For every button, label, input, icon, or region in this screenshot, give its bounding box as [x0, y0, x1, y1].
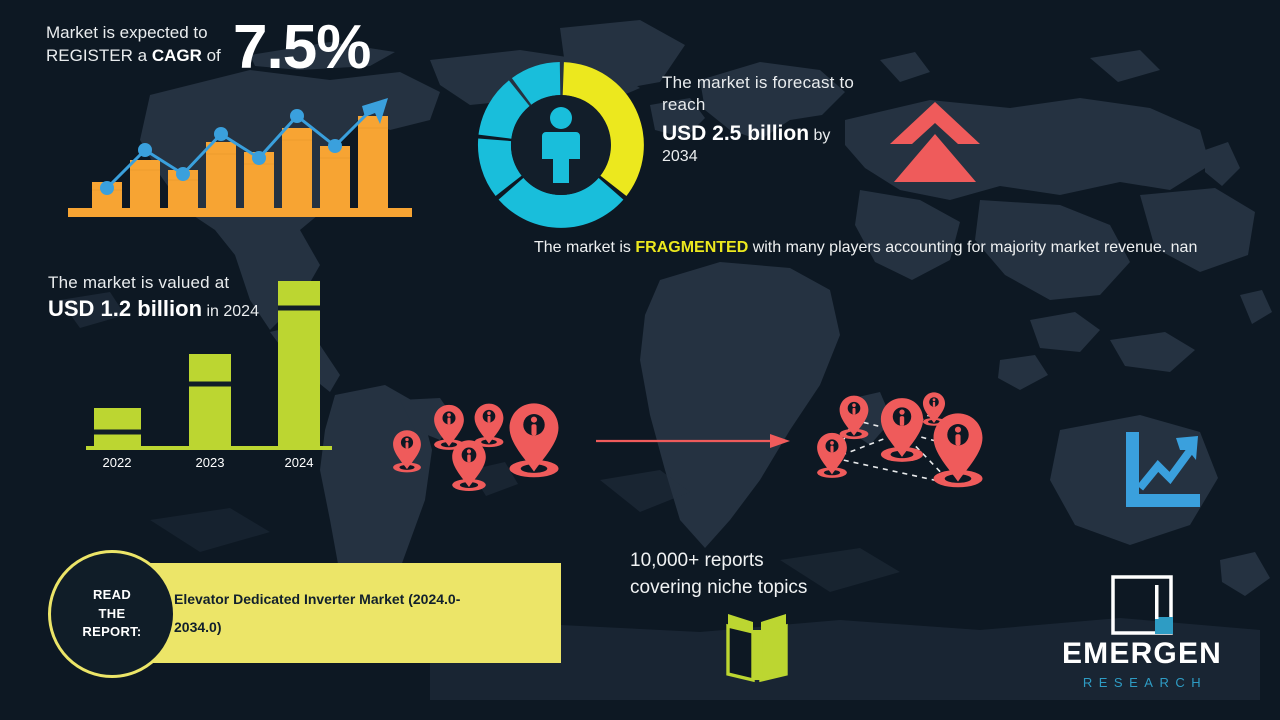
read-report-line-3: REPORT: [82, 624, 141, 639]
pin-node-3 [817, 433, 847, 478]
book-left-page [728, 626, 753, 680]
fragmentation-pre: The market is [534, 239, 635, 256]
tick-label-2023: 2023 [196, 455, 225, 470]
market-value-bar-chart: 2022 2023 2024 [86, 296, 332, 476]
pin-small-1 [393, 430, 421, 472]
read-report-line-1: READ [93, 587, 131, 602]
bar-4 [206, 142, 236, 208]
pin-node-4 [881, 398, 923, 462]
pin-node-5 [934, 413, 983, 487]
connected-location-pin-network-icon [802, 386, 1018, 504]
logo-wordmark: EMERGEN [1047, 639, 1237, 669]
pin-large-1 [510, 403, 559, 477]
cagr-value: 7.5% [233, 17, 370, 79]
book-right-page [761, 626, 786, 680]
fragmentation-post: with many players accounting for majorit… [748, 239, 1197, 256]
forecast-suffix: by [809, 127, 830, 144]
right-arrow-icon [594, 430, 794, 452]
report-title: Elevator Dedicated Inverter Market (2024… [174, 585, 504, 641]
reports-line-2: covering niche topics [630, 575, 890, 602]
reports-count-text-block: 10,000+ reports covering niche topics [630, 548, 890, 602]
read-report-banner[interactable]: Elevator Dedicated Inverter Market (2024… [128, 563, 561, 663]
read-report-label: READ THE REPORT: [82, 586, 141, 643]
forecast-year: 2034 [662, 147, 892, 168]
tick-label-2022: 2022 [103, 455, 132, 470]
read-report-line-2: THE [99, 606, 126, 621]
chart-axis-line [86, 446, 332, 450]
infographic-canvas: Market is expected to REGISTER a CAGR of… [0, 0, 1280, 720]
forecast-value: USD 2.5 billion by [662, 120, 892, 147]
fragmentation-accent: FRAGMENTED [635, 239, 748, 256]
growth-bar-chart [66, 86, 416, 226]
cagr-text-block: Market is expected to REGISTER a CAGR of [46, 22, 256, 68]
read-report-badge[interactable]: READ THE REPORT: [48, 550, 176, 678]
fragmentation-text-block: The market is FRAGMENTED with many playe… [534, 236, 1206, 259]
bar-2 [130, 160, 160, 208]
tick-label-2024: 2024 [285, 455, 314, 470]
forecast-amount: USD 2.5 billion [662, 122, 809, 145]
cagr-line-2-pre: REGISTER a [46, 46, 152, 65]
bar-2022 [94, 408, 141, 446]
logo-mark-icon [1111, 575, 1173, 635]
forecast-text-block: The market is forecast to reach USD 2.5 … [662, 72, 892, 168]
forecast-lead: The market is forecast to reach [662, 72, 892, 117]
market-share-donut [468, 52, 654, 238]
cagr-line-2-post: of [202, 46, 221, 65]
book-spine [753, 630, 761, 680]
cagr-keyword: CAGR [152, 46, 202, 65]
open-book-icon [722, 612, 792, 684]
pin-node-1 [840, 396, 869, 440]
growth-chart-icon [1122, 430, 1204, 512]
bar-2023 [189, 354, 231, 446]
pin-small-4 [475, 404, 504, 448]
logo-subtitle: RESEARCH [1047, 675, 1237, 690]
chart-baseline [68, 208, 412, 217]
emergen-research-logo: EMERGEN RESEARCH [1047, 575, 1237, 690]
location-pin-cluster-icon [382, 386, 578, 494]
cagr-line-1: Market is expected to [46, 22, 256, 45]
reports-line-1: 10,000+ reports [630, 548, 890, 575]
bar-7 [320, 146, 350, 208]
bar-8 [358, 116, 388, 208]
cagr-line-2: REGISTER a CAGR of [46, 45, 256, 68]
double-up-arrow-icon [886, 98, 984, 186]
bar-group [92, 116, 388, 208]
pin-small-3 [452, 440, 486, 491]
